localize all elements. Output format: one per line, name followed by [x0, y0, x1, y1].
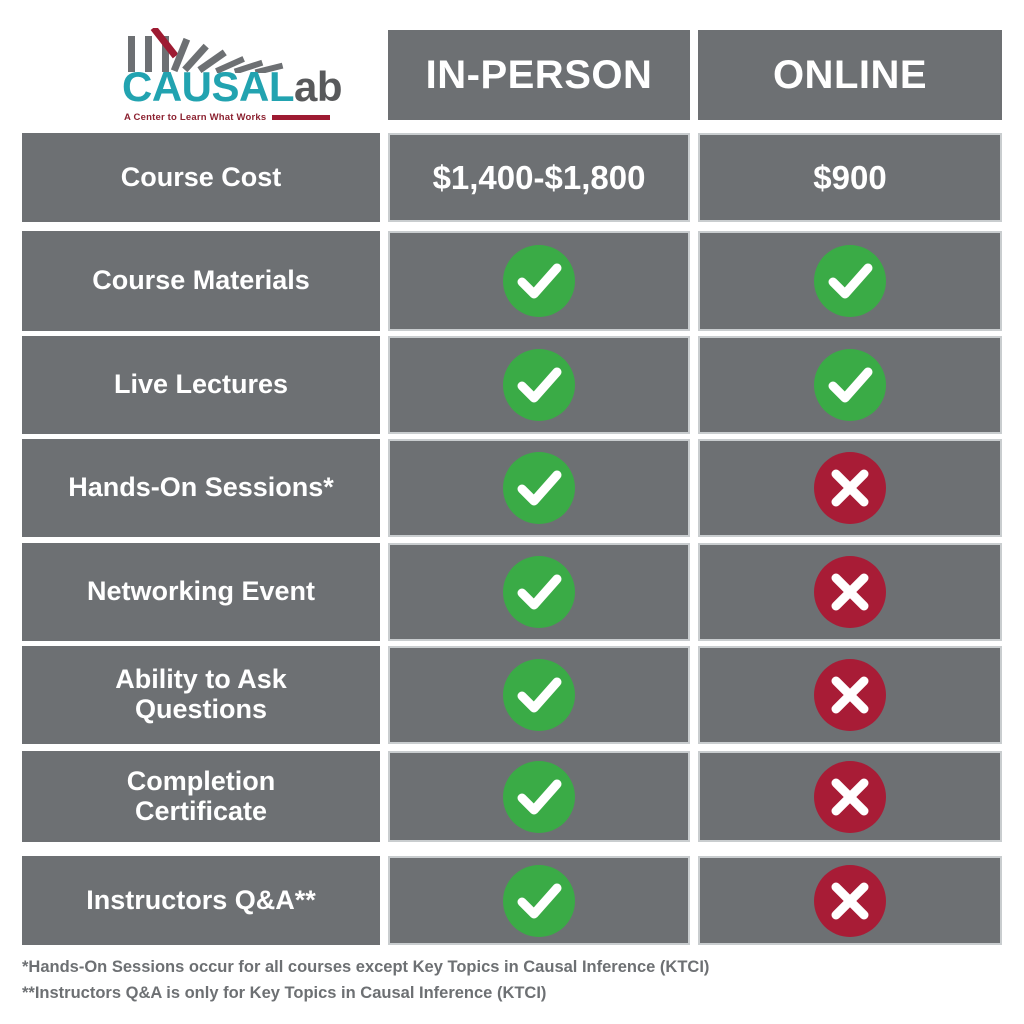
row-label-cell: Hands-On Sessions*: [22, 439, 380, 537]
row-label-text: Course Cost: [121, 163, 282, 193]
check-circle-icon: [503, 349, 575, 421]
row-label-cell: Instructors Q&A**: [22, 856, 380, 945]
cell-online: [698, 751, 1002, 842]
cell-in-person: [388, 856, 690, 945]
cross-circle-icon: [814, 556, 886, 628]
footnote-hands-on: *Hands-On Sessions occur for all courses…: [22, 955, 1002, 981]
row-label-text: Networking Event: [87, 577, 315, 607]
column-header-in-person: IN-PERSON: [388, 30, 690, 120]
cross-circle-icon: [814, 865, 886, 937]
check-circle-icon: [814, 349, 886, 421]
row-label-cell: CompletionCertificate: [22, 751, 380, 842]
cell-online: [698, 439, 1002, 537]
row-label-cell: Course Materials: [22, 231, 380, 331]
course-comparison-table: IN-PERSONONLINECourse Cost$1,400-$1,800$…: [0, 0, 1024, 950]
row-label-text: Instructors Q&A**: [86, 886, 316, 916]
check-circle-icon: [503, 452, 575, 524]
footnotes: *Hands-On Sessions occur for all courses…: [22, 955, 1002, 1006]
row-label-text: Ability to AskQuestions: [115, 665, 287, 724]
cell-in-person: [388, 231, 690, 331]
row-label-cell: Ability to AskQuestions: [22, 646, 380, 744]
row-label-cell: Live Lectures: [22, 336, 380, 434]
cell-online: [698, 856, 1002, 945]
footnote-instructors-qa: **Instructors Q&A is only for Key Topics…: [22, 981, 1002, 1007]
row-label-text: Live Lectures: [114, 370, 288, 400]
column-header-online: ONLINE: [698, 30, 1002, 120]
cell-in-person: $1,400-$1,800: [388, 133, 690, 222]
check-circle-icon: [814, 245, 886, 317]
check-circle-icon: [503, 865, 575, 937]
row-label-cell: Course Cost: [22, 133, 380, 222]
row-label-text: Course Materials: [92, 266, 310, 296]
cross-circle-icon: [814, 761, 886, 833]
cell-in-person: [388, 336, 690, 434]
check-circle-icon: [503, 659, 575, 731]
cell-online: [698, 231, 1002, 331]
cell-online: [698, 336, 1002, 434]
cell-in-person: [388, 751, 690, 842]
cell-in-person: [388, 439, 690, 537]
check-circle-icon: [503, 556, 575, 628]
cell-in-person: [388, 543, 690, 641]
row-label-text: CompletionCertificate: [127, 767, 276, 826]
row-label-text: Hands-On Sessions*: [68, 473, 334, 503]
cell-online: [698, 646, 1002, 744]
cell-online: $900: [698, 133, 1002, 222]
check-circle-icon: [503, 245, 575, 317]
row-label-cell: Networking Event: [22, 543, 380, 641]
cross-circle-icon: [814, 659, 886, 731]
cell-in-person: [388, 646, 690, 744]
check-circle-icon: [503, 761, 575, 833]
cross-circle-icon: [814, 452, 886, 524]
cell-online: [698, 543, 1002, 641]
